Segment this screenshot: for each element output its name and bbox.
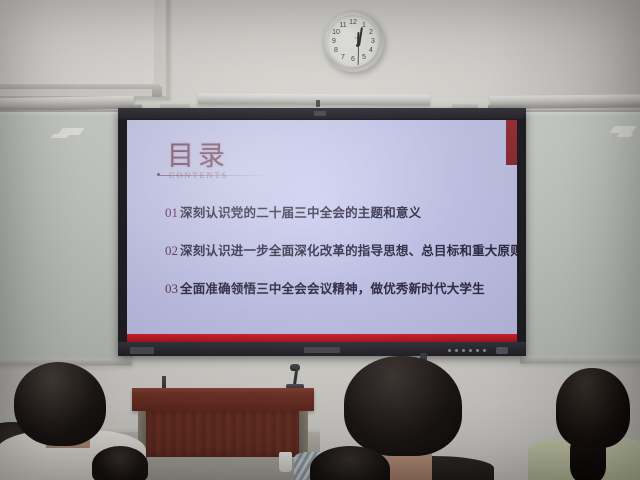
- lectern-front-panel: [146, 411, 300, 457]
- menu-button-icon[interactable]: [455, 349, 458, 352]
- display-bezel-bottom: [118, 342, 526, 356]
- home-button-icon[interactable]: [483, 349, 486, 352]
- presentation-screen[interactable]: 目录 CONTENTS 01 深刻认识党的二十届三中全会的主题和意义 02 深刻…: [127, 120, 517, 342]
- slide-title-underline: [159, 175, 271, 176]
- list-item: 01 深刻认识党的二十届三中全会的主题和意义: [165, 202, 505, 221]
- upper-panel-surface: [0, 0, 154, 86]
- clock-numeral-3: 3: [368, 37, 378, 46]
- lectern-top-edge: [132, 388, 314, 392]
- ceiling-sensor-icon: [316, 100, 320, 107]
- list-item-label: 深刻认识进一步全面深化改革的指导思想、总目标和重大原则: [180, 240, 517, 259]
- slide-accent-top-right: [506, 120, 517, 165]
- ir-receiver-icon: [496, 347, 508, 354]
- clock-second-hand: [357, 46, 358, 65]
- wall-clock: 12 1 2 3 4 5 6 7 8 9 10 11 SKK: [322, 10, 384, 72]
- list-item-label: 全面准确领悟三中全会会议精神，做优秀新时代大学生: [180, 278, 485, 297]
- volume-up-button-icon[interactable]: [462, 349, 465, 352]
- list-item-number: 02: [165, 243, 178, 259]
- display-brand-logo: [130, 347, 154, 354]
- list-item: 02 深刻认识进一步全面深化改革的指导思想、总目标和重大原则: [165, 240, 505, 259]
- display-control-buttons[interactable]: [448, 349, 486, 352]
- clock-face: 12 1 2 3 4 5 6 7 8 9 10 11 SKK: [327, 15, 379, 67]
- student-front-left: [14, 362, 106, 446]
- clock-numeral-8: 8: [331, 46, 341, 55]
- ceiling-rail-center: [198, 93, 430, 105]
- whiteboard-glare-right-2: [617, 133, 634, 137]
- interactive-flat-panel[interactable]: 目录 CONTENTS 01 深刻认识党的二十届三中全会的主题和意义 02 深刻…: [118, 108, 526, 356]
- student-right-ponytail: [556, 368, 630, 448]
- source-button-icon[interactable]: [476, 349, 479, 352]
- upper-panel-knob: [152, 86, 162, 97]
- clock-numeral-9: 9: [329, 37, 339, 46]
- power-button-icon[interactable]: [448, 349, 451, 352]
- list-item-label: 深刻认识党的二十届三中全会的主题和意义: [180, 202, 421, 221]
- list-item-number: 01: [165, 205, 178, 221]
- whiteboard-left: [0, 110, 132, 366]
- upper-panel-rail: [0, 84, 160, 89]
- whiteboard-tray-right: [520, 356, 640, 363]
- clock-center-pin: [356, 44, 359, 47]
- clock-numeral-11: 11: [338, 21, 348, 30]
- whiteboard-glare-left-2: [51, 134, 70, 138]
- clock-numeral-6: 6: [348, 55, 358, 64]
- student-center: [344, 356, 462, 456]
- student-back-row-left: [92, 446, 148, 480]
- whiteboard-right: [520, 110, 640, 364]
- clock-numeral-12: 12: [348, 18, 358, 27]
- clock-numeral-2: 2: [366, 28, 376, 37]
- clock-numeral-5: 5: [359, 53, 369, 62]
- slide-bottom-bar: [127, 334, 517, 342]
- volume-down-button-icon[interactable]: [469, 349, 472, 352]
- slide-contents-list: 01 深刻认识党的二十届三中全会的主题和意义 02 深刻认识进一步全面深化改革的…: [165, 202, 505, 316]
- classroom-photo: 12 1 2 3 4 5 6 7 8 9 10 11 SKK: [0, 0, 640, 480]
- cup: [279, 452, 292, 472]
- display-center-label: [304, 347, 340, 353]
- list-item: 03 全面准确领悟三中全会会议精神，做优秀新时代大学生: [165, 278, 505, 297]
- list-item-number: 03: [165, 281, 178, 297]
- camera-icon: [314, 111, 326, 116]
- slide-title: 目录: [167, 142, 229, 170]
